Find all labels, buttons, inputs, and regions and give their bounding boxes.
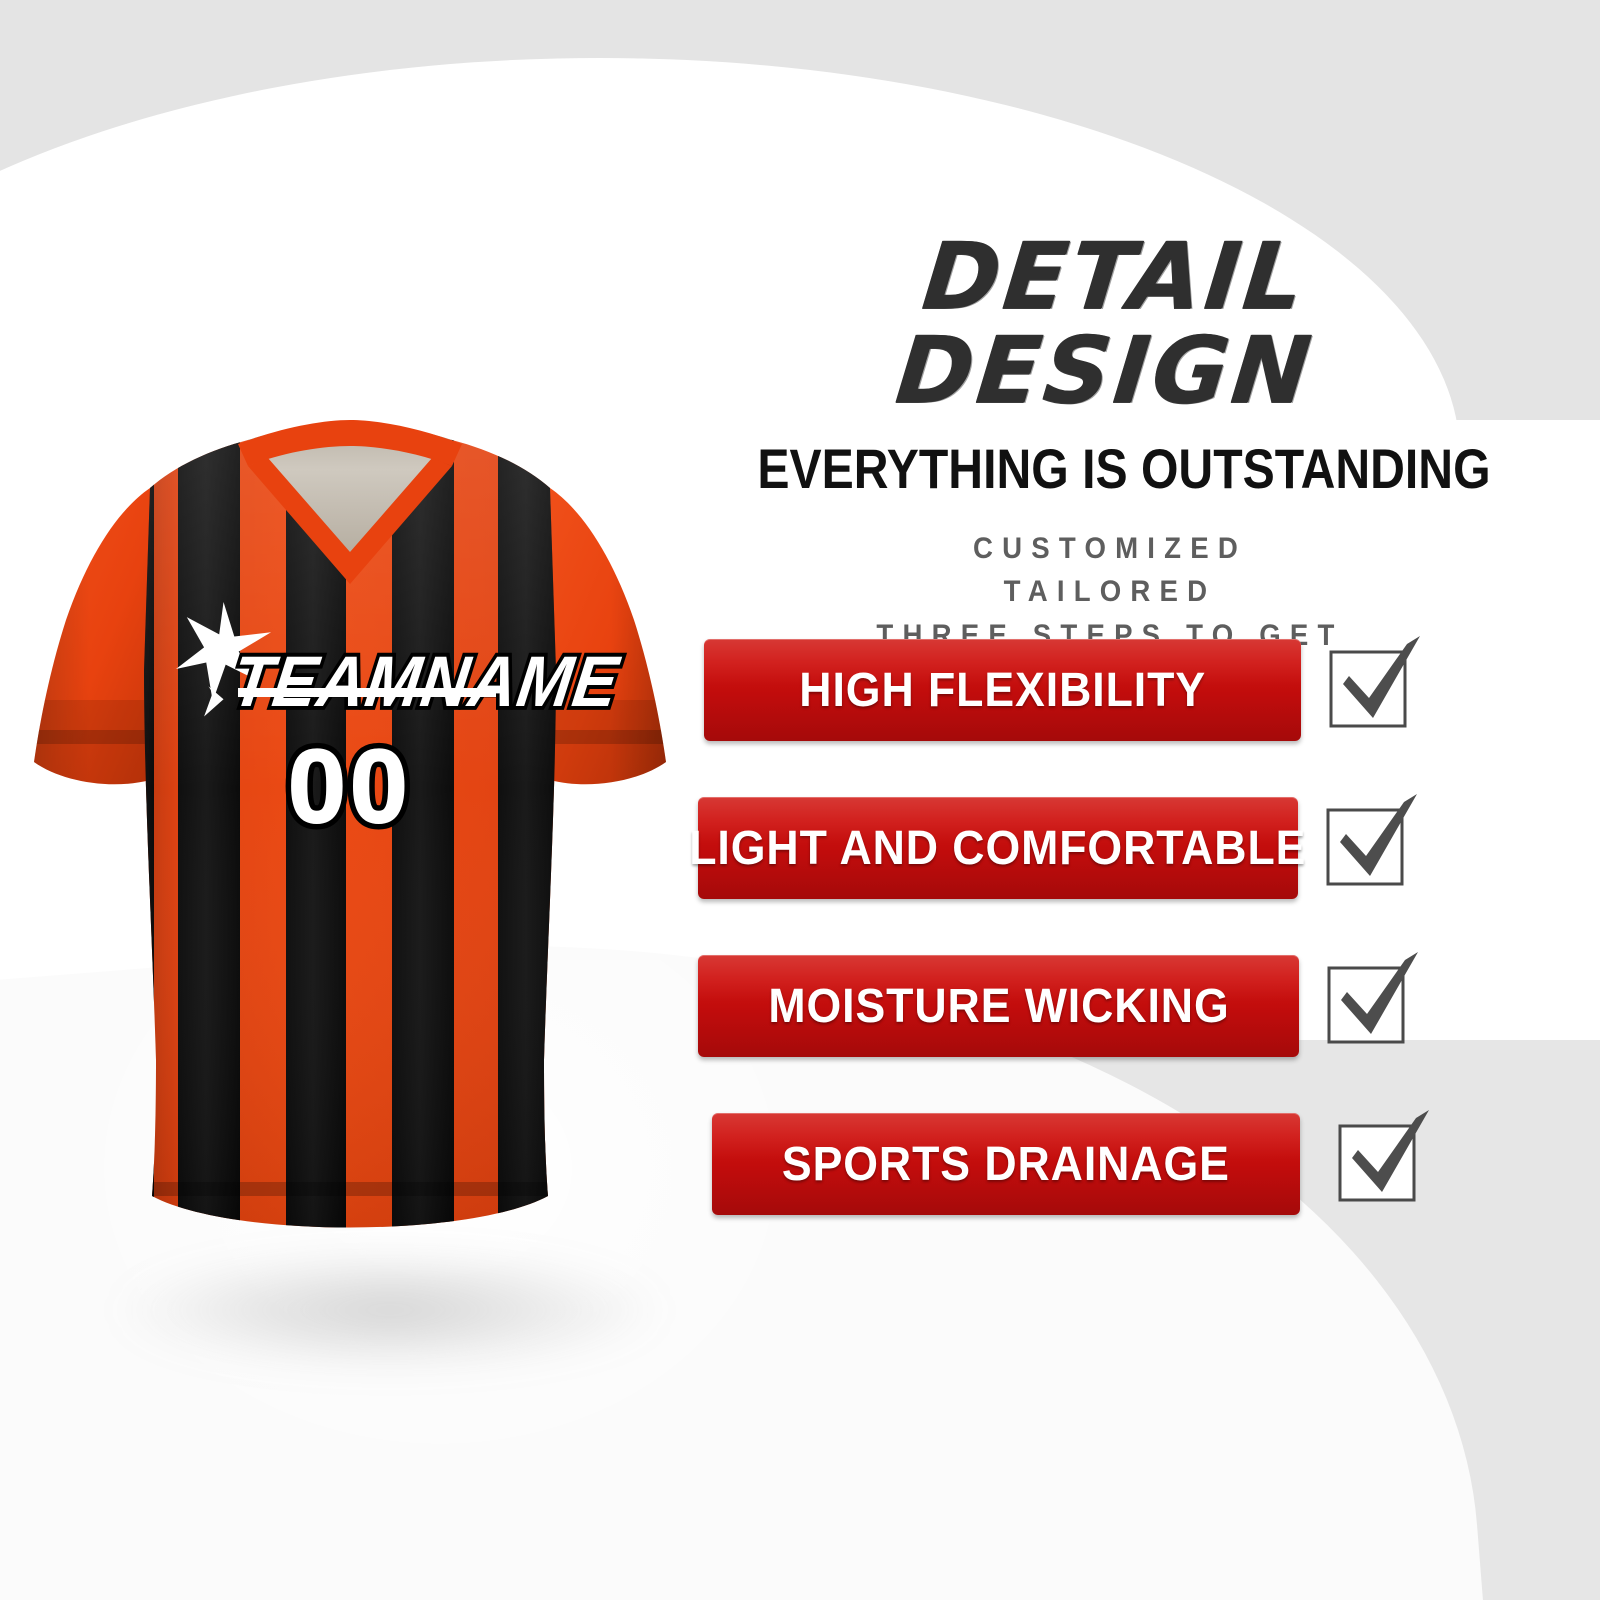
product-image-jersey: TEAMNAME 00 00 <box>0 370 700 1270</box>
feature-row: LIGHT AND COMFORTABLE <box>690 794 1490 902</box>
checkbox-moisture-wicking[interactable] <box>1317 954 1421 1058</box>
check-mark-icon <box>1316 780 1420 900</box>
checkbox-high-flexibility[interactable] <box>1319 638 1423 742</box>
feature-bar-light-and-comfortable[interactable]: LIGHT AND COMFORTABLE <box>698 797 1298 899</box>
feature-row: SPORTS DRAINAGE <box>690 1110 1490 1218</box>
jersey-team-name: TEAMNAME <box>227 642 624 722</box>
checkbox-sports-drainage[interactable] <box>1328 1112 1432 1216</box>
checkbox-light-and-comfortable[interactable] <box>1316 796 1420 900</box>
feature-row: HIGH FLEXIBILITY <box>690 636 1490 744</box>
jersey-illustration: TEAMNAME 00 00 <box>0 370 700 1270</box>
page-subtitle: EVERYTHING IS OUTSTANDING <box>757 436 1462 501</box>
poster-canvas: TEAMNAME 00 00 DETAIL DESIGN EVERYTHING … <box>0 0 1600 1600</box>
team-name-underline <box>238 688 496 697</box>
tagline-2: TAILORED <box>733 570 1487 614</box>
check-mark-icon <box>1319 622 1423 742</box>
feature-label: SPORTS DRAINAGE <box>782 1137 1230 1192</box>
feature-list: HIGH FLEXIBILITY LIGHT AND COMFORTABLE <box>690 636 1490 1268</box>
header-block: DETAIL DESIGN EVERYTHING IS OUTSTANDING … <box>640 230 1580 657</box>
feature-label: LIGHT AND COMFORTABLE <box>689 821 1306 876</box>
tagline-1: CUSTOMIZED <box>733 527 1487 571</box>
check-mark-icon <box>1328 1096 1432 1216</box>
feature-row: MOISTURE WICKING <box>690 952 1490 1060</box>
jersey-player-number: 00 00 <box>288 729 412 845</box>
svg-text:TEAMNAME: TEAMNAME <box>227 642 624 722</box>
check-mark-icon <box>1317 938 1421 1058</box>
feature-bar-sports-drainage[interactable]: SPORTS DRAINAGE <box>712 1113 1300 1215</box>
feature-bar-moisture-wicking[interactable]: MOISTURE WICKING <box>698 955 1299 1057</box>
page-title: DETAIL DESIGN <box>690 230 1530 418</box>
feature-label: HIGH FLEXIBILITY <box>799 663 1206 718</box>
number-outline: 00 <box>288 729 412 845</box>
feature-label: MOISTURE WICKING <box>768 979 1229 1034</box>
feature-bar-high-flexibility[interactable]: HIGH FLEXIBILITY <box>704 639 1301 741</box>
